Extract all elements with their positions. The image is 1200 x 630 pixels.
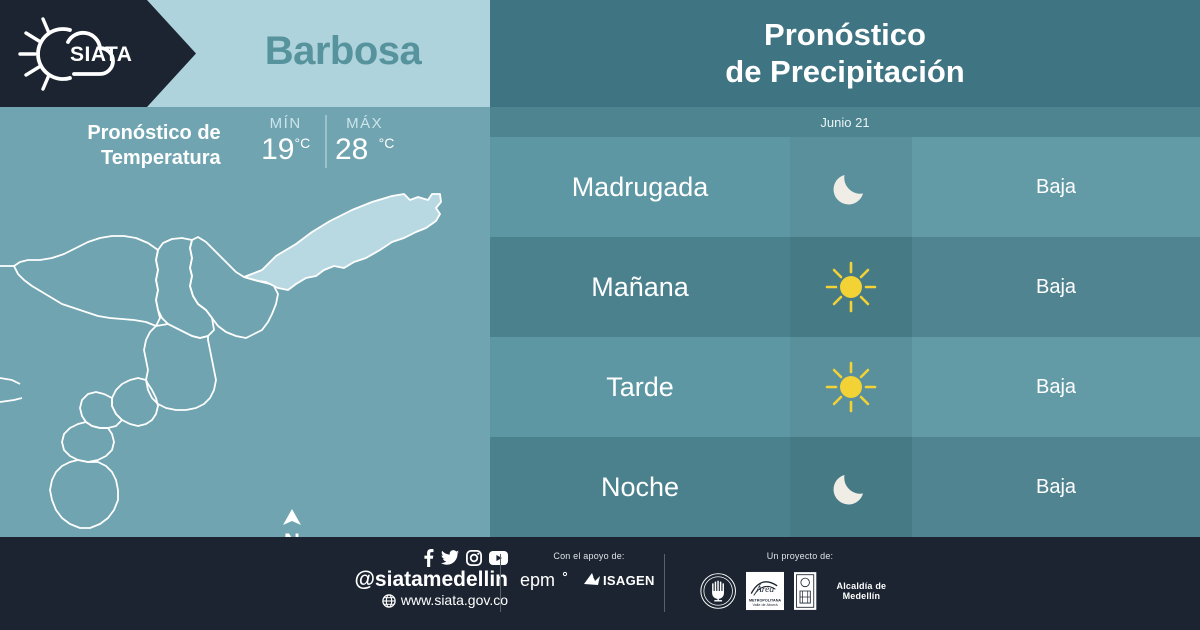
min-value: 19 xyxy=(261,133,294,166)
svg-text:ISAGEN: ISAGEN xyxy=(603,573,655,588)
globe-icon xyxy=(382,594,396,608)
map-region-caldas xyxy=(50,460,118,528)
table-row[interactable]: Tarde xyxy=(490,337,1200,437)
siata-logo-text: SIATA xyxy=(70,43,132,66)
social-handle[interactable]: @siatamedellin xyxy=(318,568,508,592)
min-reading: 19°C xyxy=(247,133,325,168)
max-value: 28 xyxy=(335,133,368,166)
weather-forecast-infographic: SIATA Barbosa Pronóstico de Temperatura … xyxy=(0,0,1200,630)
max-label: MÁX xyxy=(327,115,403,133)
area-label-2: Valle de Aburrá xyxy=(753,603,779,607)
precipitation-level: Baja xyxy=(912,237,1200,337)
temperature-title: Pronóstico de Temperatura xyxy=(87,115,220,171)
sun-icon xyxy=(790,237,912,337)
youtube-icon[interactable] xyxy=(489,551,508,565)
period-label: Tarde xyxy=(490,337,790,437)
sun-cloud-icon: SIATA xyxy=(16,12,136,96)
social-block: @siatamedellin www.siata.gov.co xyxy=(318,549,508,609)
period-label: Noche xyxy=(490,437,790,537)
moon-icon xyxy=(790,437,912,537)
area-label-1: METROPOLITANA xyxy=(749,598,781,602)
epm-logo: epm xyxy=(520,569,572,591)
project-logos: Área METROPOLITANA Valle de Aburrá Alca xyxy=(700,569,900,613)
temperature-title-line2: Temperatura xyxy=(87,146,220,171)
map-svg xyxy=(0,180,490,537)
precipitation-level: Baja xyxy=(912,337,1200,437)
map-region-edge-west xyxy=(0,266,22,402)
precipitation-level: Baja xyxy=(912,137,1200,237)
sun-icon xyxy=(790,337,912,437)
precipitation-header: Pronóstico de Precipitación xyxy=(490,0,1200,107)
twitter-icon[interactable] xyxy=(441,550,459,566)
moon-icon xyxy=(790,137,912,237)
temperature-panel: SIATA Barbosa Pronóstico de Temperatura … xyxy=(0,0,490,537)
period-label: Mañana xyxy=(490,237,790,337)
table-row[interactable]: Mañana xyxy=(490,237,1200,337)
precipitation-title-line1: Pronóstico xyxy=(725,17,964,54)
period-label: Madrugada xyxy=(490,137,790,237)
svg-text:Área: Área xyxy=(755,583,774,595)
min-label: MÍN xyxy=(247,115,325,133)
website-line[interactable]: www.siata.gov.co xyxy=(318,592,508,609)
precipitation-title-line2: de Precipitación xyxy=(725,54,964,91)
forecast-date: Junio 21 xyxy=(490,107,1200,137)
precipitation-level: Baja xyxy=(912,437,1200,537)
min-unit: °C xyxy=(295,135,311,151)
website-url: www.siata.gov.co xyxy=(401,592,508,609)
map-region-copacabana xyxy=(156,238,214,338)
temperature-min: MÍN 19°C xyxy=(247,115,325,168)
isagen-logo: ISAGEN xyxy=(582,570,658,590)
support-logos: epm ISAGEN xyxy=(516,569,662,591)
support-caption: Con el apoyo de: xyxy=(516,551,662,561)
project-block: Un proyecto de: xyxy=(700,551,900,613)
svg-text:epm: epm xyxy=(520,570,555,590)
temperature-title-line1: Pronóstico de xyxy=(87,121,220,146)
table-row[interactable]: Madrugada Baja xyxy=(490,137,1200,237)
map-region-girardota xyxy=(190,237,278,338)
alcaldia-de-medellin-logo: Alcaldía de Medellín xyxy=(794,569,900,613)
table-row[interactable]: Noche Baja xyxy=(490,437,1200,537)
aburra-valley-map: N xyxy=(0,180,490,537)
precipitation-panel: Pronóstico de Precipitación Junio 21 Mad… xyxy=(490,0,1200,537)
max-unit: °C xyxy=(379,135,395,151)
temperature-max: MÁX 28 °C xyxy=(325,115,403,168)
max-reading: 28 °C xyxy=(327,133,403,168)
map-region-barbosa xyxy=(244,194,441,290)
page-title: Barbosa xyxy=(196,0,490,107)
map-region-la-estrella xyxy=(62,422,114,462)
support-block: Con el apoyo de: epm ISAGEN xyxy=(516,551,662,591)
precipitation-title: Pronóstico de Precipitación xyxy=(725,17,964,90)
project-caption: Un proyecto de: xyxy=(700,551,900,561)
map-region-bello xyxy=(14,236,160,326)
alcaldia-shield-icon xyxy=(794,569,816,613)
footer-divider xyxy=(500,554,501,612)
social-icons xyxy=(318,549,508,567)
instagram-icon[interactable] xyxy=(466,550,482,566)
universidad-de-antioquia-seal-icon xyxy=(700,570,736,612)
temperature-values: MÍN 19°C MÁX 28 °C xyxy=(247,115,403,168)
footer: @siatamedellin www.siata.gov.co Con el a… xyxy=(0,537,1200,630)
alcaldia-label: Alcaldía de Medellín xyxy=(823,581,900,601)
footer-divider xyxy=(664,554,665,612)
temperature-summary: Pronóstico de Temperatura MÍN 19°C MÁX 2… xyxy=(0,115,490,187)
map-region-envigado xyxy=(112,378,158,426)
area-metropolitana-logo: Área METROPOLITANA Valle de Aburrá xyxy=(746,569,784,613)
forecast-table: Madrugada Baja Mañana xyxy=(490,137,1200,537)
facebook-icon[interactable] xyxy=(423,549,434,567)
